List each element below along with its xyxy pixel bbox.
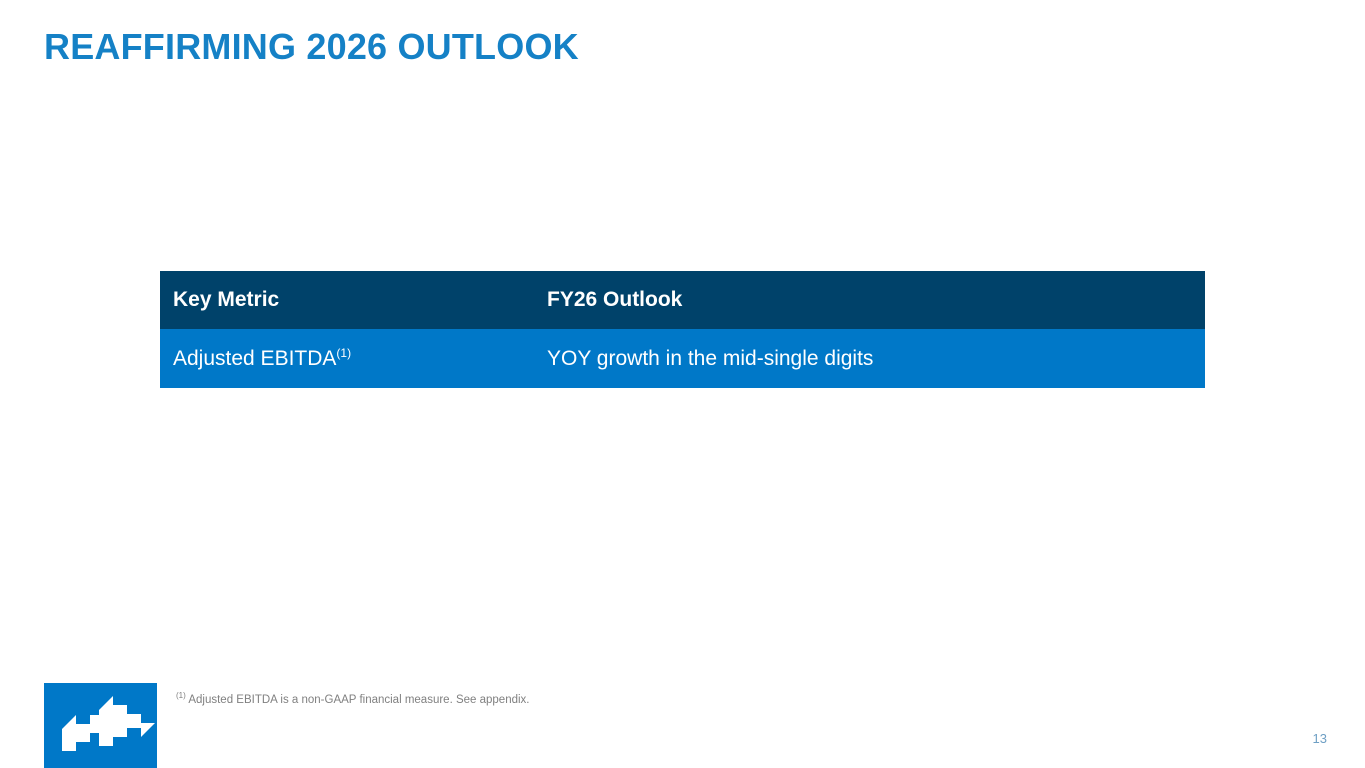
column-header-key-metric: Key Metric [160,288,540,312]
logo-mark-icon [44,683,157,768]
footnote-marker: (1) [176,691,186,700]
footnote: (1) Adjusted EBITDA is a non-GAAP financ… [176,692,530,708]
cell-key-metric: Adjusted EBITDA(1) [160,347,540,371]
column-header-fy26-outlook: FY26 Outlook [540,288,1205,312]
metric-label: Adjusted EBITDA [173,347,336,370]
cell-fy26-outlook: YOY growth in the mid-single digits [540,347,1205,371]
table-row: Adjusted EBITDA(1) YOY growth in the mid… [160,329,1205,388]
metric-footnote-marker: (1) [336,346,351,360]
outlook-table: Key Metric FY26 Outlook Adjusted EBITDA(… [160,271,1205,388]
table-header-row: Key Metric FY26 Outlook [160,271,1205,329]
page-title: REAFFIRMING 2026 OUTLOOK [44,26,579,68]
company-logo [44,683,157,768]
page-number: 13 [1313,731,1327,746]
footnote-text: Adjusted EBITDA is a non-GAAP financial … [188,694,529,706]
